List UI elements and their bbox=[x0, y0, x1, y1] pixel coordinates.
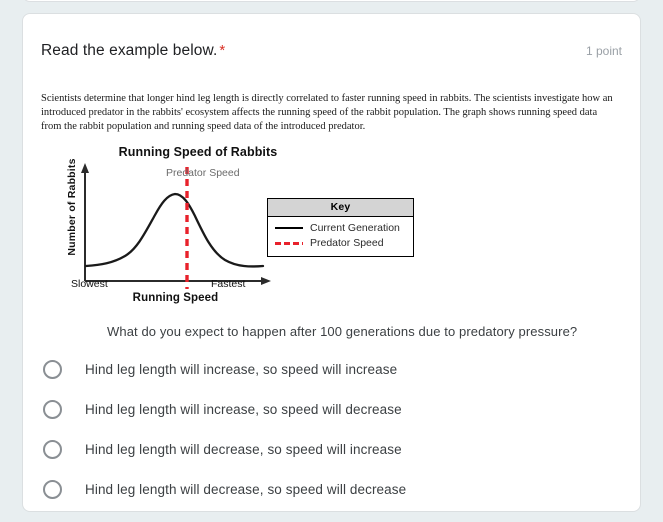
chart-legend: Key Current Generation Predator Speed bbox=[267, 198, 414, 257]
current-generation-curve bbox=[86, 194, 263, 266]
legend-label-predator-speed: Predator Speed bbox=[310, 237, 384, 249]
chart-title: Running Speed of Rabbits bbox=[83, 145, 313, 159]
legend-title: Key bbox=[268, 199, 413, 217]
previous-question-card-edge bbox=[22, 0, 641, 2]
x-axis-arrow bbox=[261, 277, 271, 285]
radio-button-3[interactable] bbox=[43, 440, 62, 459]
page-title: Read the example below.* bbox=[41, 41, 225, 61]
stimulus-block: Scientists determine that longer hind le… bbox=[41, 92, 624, 313]
chart-figure: Running Speed of Rabbits Number of Rabbi… bbox=[41, 145, 624, 313]
question-title-text: Read the example below. bbox=[41, 42, 217, 59]
radio-button-4[interactable] bbox=[43, 480, 62, 499]
answer-options-group: Hind leg length will increase, so speed … bbox=[41, 349, 622, 509]
legend-body: Current Generation Predator Speed bbox=[268, 217, 413, 256]
option-label-2[interactable]: Hind leg length will increase, so speed … bbox=[85, 402, 402, 417]
predator-speed-annotation: Predator Speed bbox=[166, 167, 240, 179]
points-badge: 1 point bbox=[586, 41, 622, 58]
chart-plot-area bbox=[67, 159, 282, 294]
radio-button-1[interactable] bbox=[43, 360, 62, 379]
option-row-3[interactable]: Hind leg length will decrease, so speed … bbox=[41, 429, 622, 469]
option-row-1[interactable]: Hind leg length will increase, so speed … bbox=[41, 349, 622, 389]
option-label-4[interactable]: Hind leg length will decrease, so speed … bbox=[85, 482, 406, 497]
required-asterisk: * bbox=[219, 42, 225, 59]
question-card: Read the example below.* 1 point Scienti… bbox=[22, 13, 641, 512]
option-label-3[interactable]: Hind leg length will decrease, so speed … bbox=[85, 442, 402, 457]
radio-button-2[interactable] bbox=[43, 400, 62, 419]
option-row-2[interactable]: Hind leg length will increase, so speed … bbox=[41, 389, 622, 429]
dashed-line-swatch-icon bbox=[274, 242, 304, 245]
sub-question-text: What do you expect to happen after 100 g… bbox=[107, 324, 577, 339]
x-tick-fastest: Fastest bbox=[211, 278, 245, 290]
x-tick-slowest: Slowest bbox=[71, 278, 108, 290]
option-label-1[interactable]: Hind leg length will increase, so speed … bbox=[85, 362, 397, 377]
solid-line-swatch-icon bbox=[274, 227, 304, 229]
option-row-4[interactable]: Hind leg length will decrease, so speed … bbox=[41, 469, 622, 509]
legend-label-current-generation: Current Generation bbox=[310, 222, 400, 234]
stimulus-paragraph: Scientists determine that longer hind le… bbox=[41, 92, 624, 135]
y-axis-arrow bbox=[81, 163, 89, 173]
chart-x-axis-label: Running Speed bbox=[83, 292, 268, 304]
legend-item-current-generation: Current Generation bbox=[274, 221, 407, 236]
legend-item-predator-speed: Predator Speed bbox=[274, 236, 407, 251]
question-header: Read the example below.* 1 point bbox=[41, 41, 622, 61]
